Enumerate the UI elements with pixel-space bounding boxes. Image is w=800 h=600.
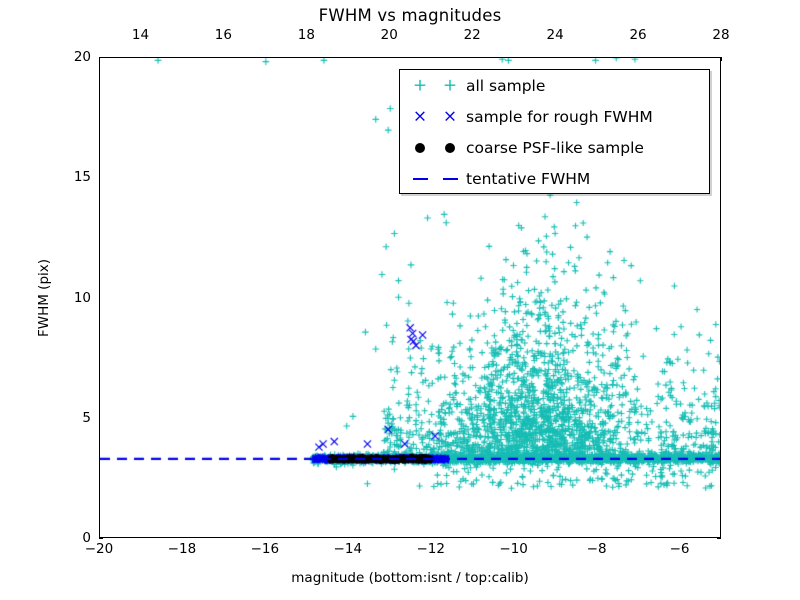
legend-label: tentative FWHM [466,170,590,188]
x-axis-tick-label: −14 [334,541,363,557]
x-axis-label: magnitude (bottom:isnt / top:calib) [99,570,721,586]
y-axis-tick-label: 0 [82,530,91,546]
y-axis-tick-label: 20 [74,49,91,65]
y-axis-tick-label: 10 [74,290,91,306]
legend-marker-group: + + [404,70,466,101]
x-axis-tick-label: −8 [587,541,607,557]
legend-label: coarse PSF-like sample [466,139,644,157]
x-axis-tick-label: −18 [168,541,197,557]
x-axis-top-tick-label: 22 [464,27,481,43]
legend-label: all sample [466,77,545,95]
y-axis-label: FWHM (pix) [36,88,52,508]
x-axis-top-tick-label: 18 [298,27,315,43]
dot-marker-icon [445,143,455,153]
y-axis-right-tick-mark [717,538,721,539]
x-axis-top-tick-label: 26 [629,27,646,43]
x-axis-top-tick-label: 20 [381,27,398,43]
x-axis-top-tick-mark [721,57,722,61]
cross-marker-icon: × [443,108,457,125]
dashed-line-marker-icon [443,178,458,180]
y-axis-tick-mark [99,538,103,539]
figure-canvas: FWHM vs magnitudes FWHM (pix) magnitude … [0,0,800,600]
x-axis-top-tick-label: 14 [132,27,149,43]
x-axis-top-tick-label: 28 [712,27,729,43]
x-axis-tick-label: −12 [416,541,445,557]
cross-marker-icon: × [413,108,427,125]
dot-marker-icon [415,143,425,153]
plus-marker-icon: + [413,77,427,94]
legend-marker-group [404,163,466,194]
legend-item-tentative-fwhm[interactable]: tentative FWHM [400,163,709,194]
legend-marker-group: × × [404,101,466,132]
plus-marker-icon: + [443,77,457,94]
legend-label: sample for rough FWHM [466,108,653,126]
dashed-line-marker-icon [413,178,428,180]
legend-marker-group [404,132,466,163]
legend-item-coarse-psf[interactable]: coarse PSF-like sample [400,132,709,163]
x-axis-tick-label: −16 [251,541,280,557]
x-axis-top-tick-label: 24 [547,27,564,43]
x-axis-tick-label: −6 [670,541,690,557]
legend-box[interactable]: + + all sample × × sample for rough FWHM… [399,69,710,194]
page-title: FWHM vs magnitudes [99,6,721,25]
y-axis-tick-label: 15 [74,169,91,185]
x-axis-top-tick-label: 16 [215,27,232,43]
legend-item-all-sample[interactable]: + + all sample [400,70,709,101]
x-axis-tick-label: −10 [499,541,528,557]
y-axis-tick-label: 5 [82,410,91,426]
legend-item-rough-fwhm[interactable]: × × sample for rough FWHM [400,101,709,132]
